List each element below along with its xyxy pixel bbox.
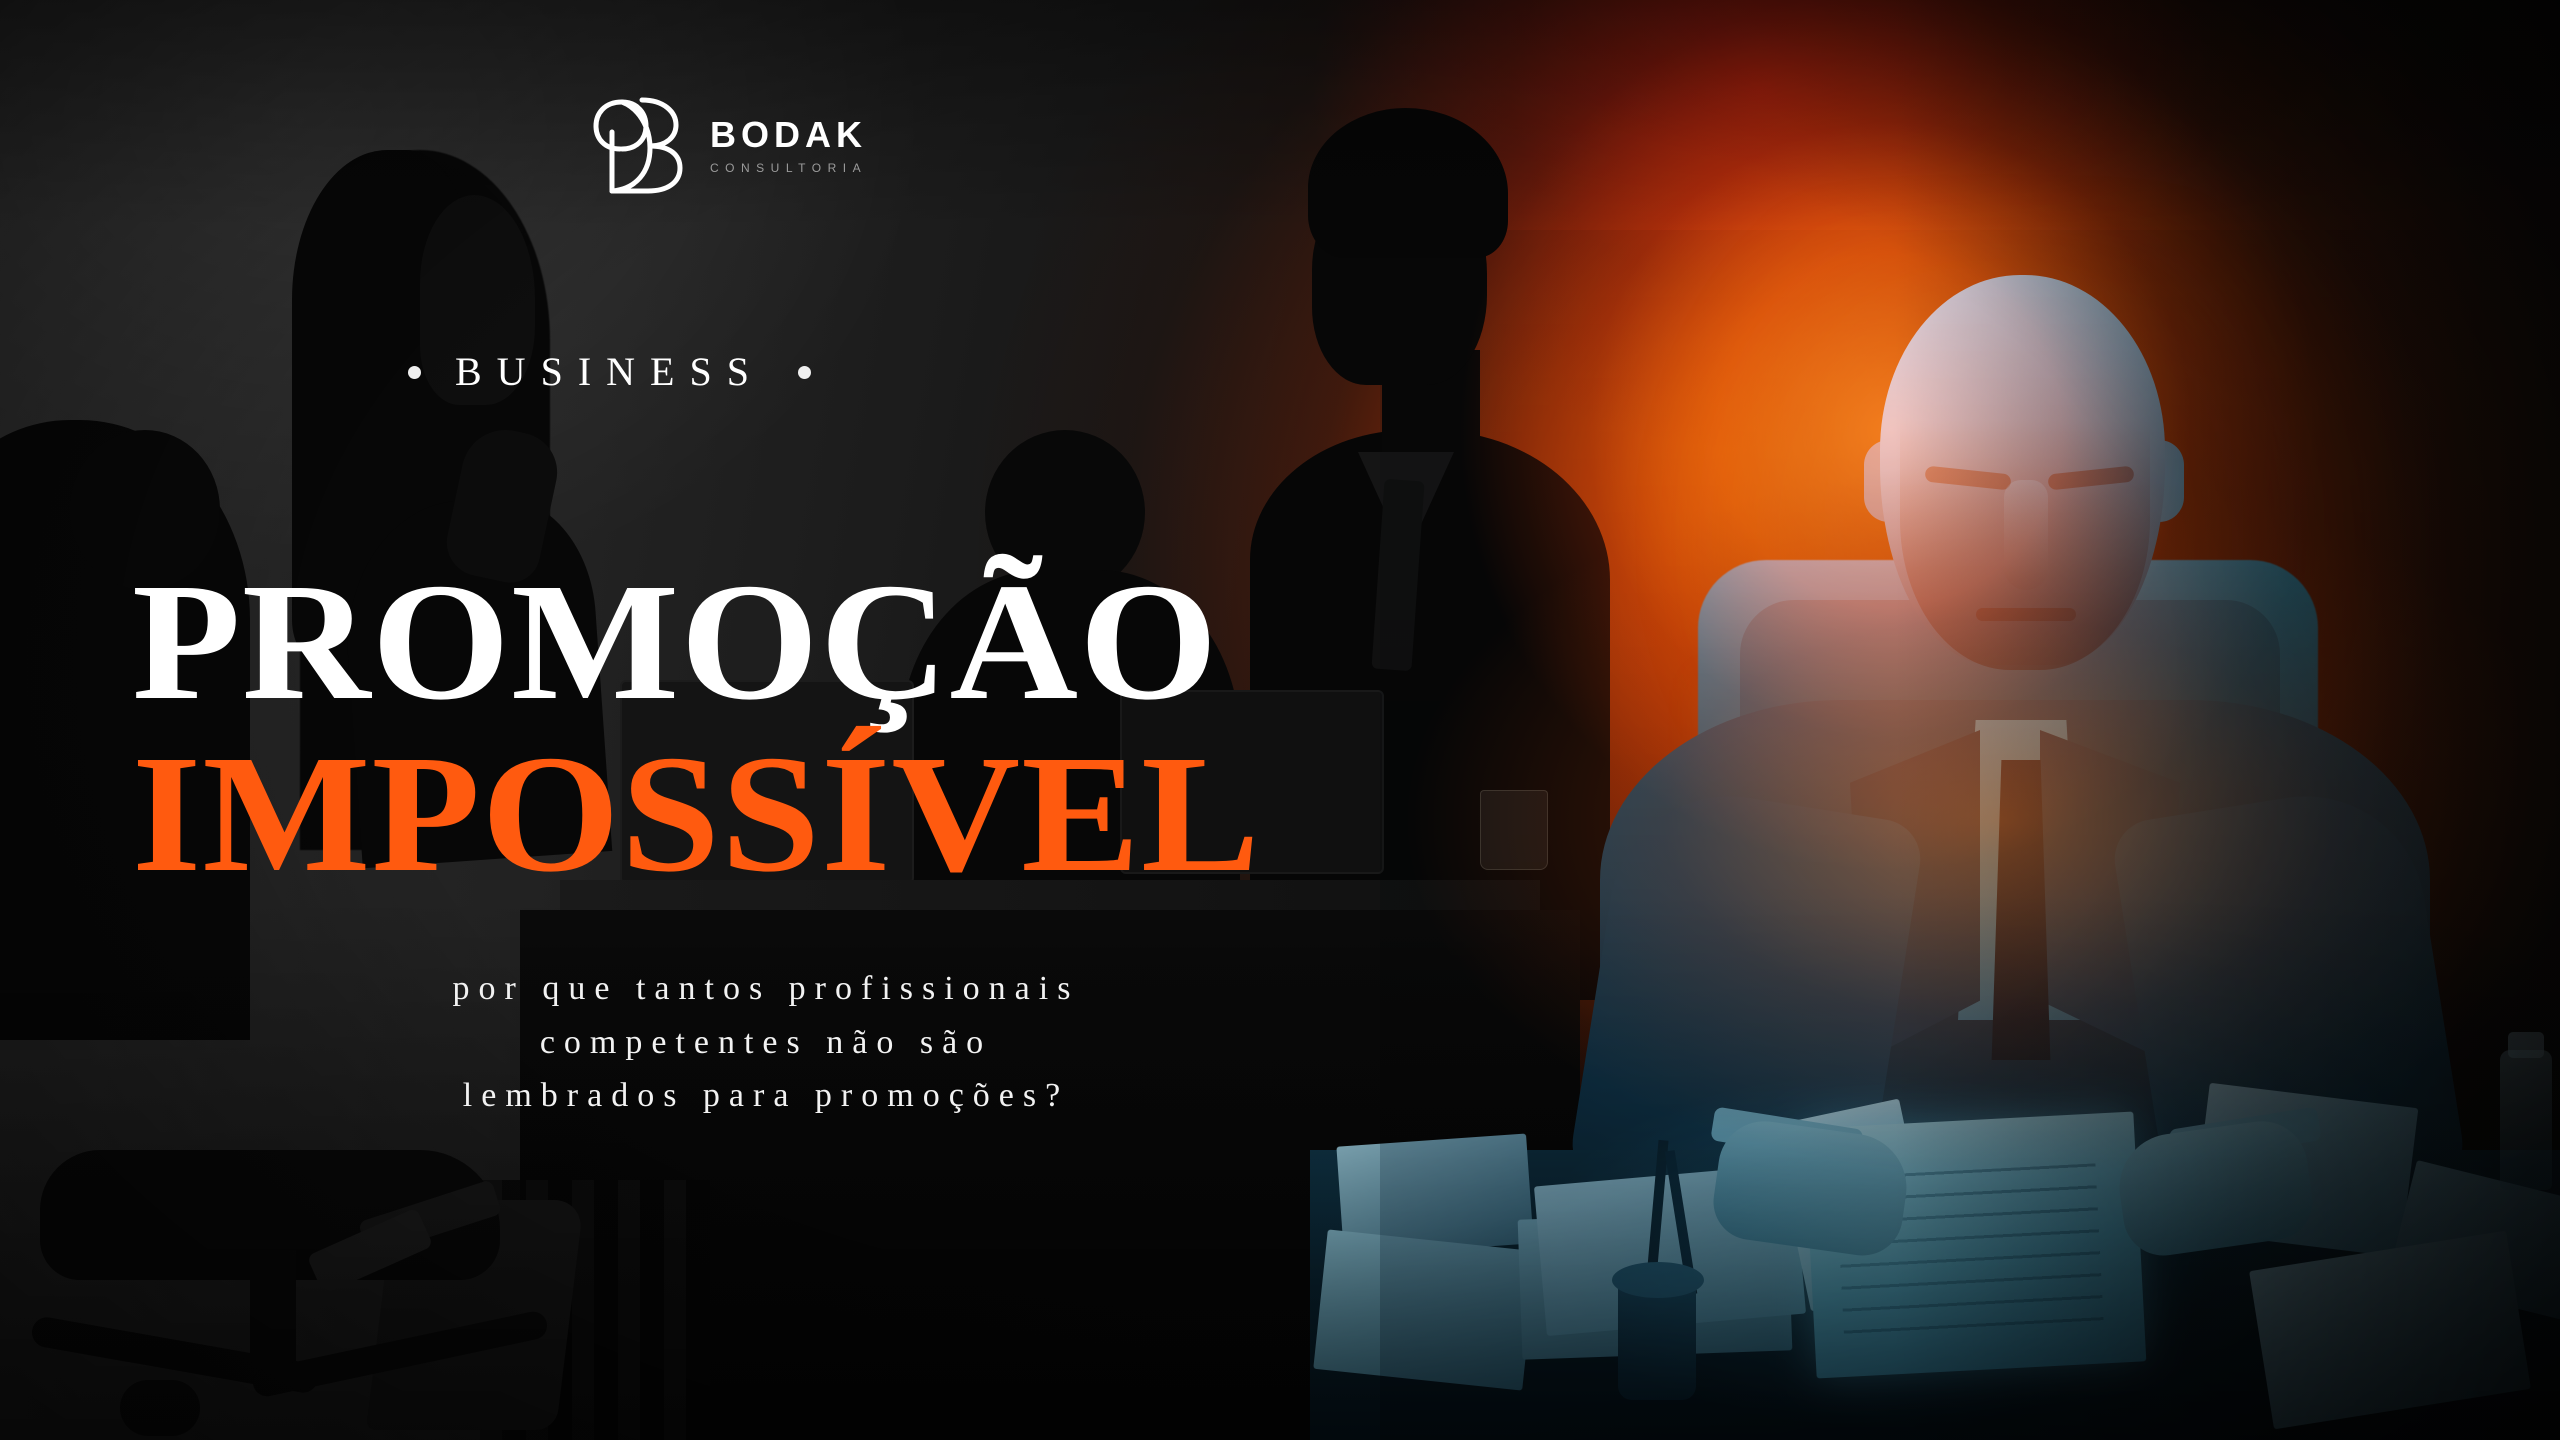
bodak-monogram-bd-icon (592, 92, 688, 198)
bullet-dot-right-icon (798, 366, 811, 379)
poster-canvas: BODAK CONSULTORIA BUSINESS PROMOÇÃO IMPO… (0, 0, 2560, 1440)
poster-content: BODAK CONSULTORIA BUSINESS PROMOÇÃO IMPO… (0, 0, 2560, 1440)
brand-logo[interactable]: BODAK CONSULTORIA (592, 92, 867, 198)
brand-tagline: CONSULTORIA (710, 162, 867, 174)
brand-name: BODAK (710, 117, 867, 153)
page-title: PROMOÇÃO IMPOSSÍVEL (132, 565, 1261, 892)
eyebrow-text: BUSINESS (455, 352, 764, 392)
headline-line-1: PROMOÇÃO (132, 565, 1261, 720)
subtitle-line-1: por que tantos profissionais (236, 962, 1296, 1016)
bullet-dot-left-icon (408, 366, 421, 379)
subtitle-line-2: competentes não são (236, 1016, 1296, 1070)
eyebrow-label: BUSINESS (408, 352, 811, 392)
headline-line-2: IMPOSSÍVEL (132, 737, 1261, 892)
subtitle-block: por que tantos profissionais competentes… (236, 962, 1296, 1123)
subtitle-line-3: lembrados para promoções? (236, 1069, 1296, 1123)
brand-wordmark: BODAK CONSULTORIA (710, 117, 867, 174)
